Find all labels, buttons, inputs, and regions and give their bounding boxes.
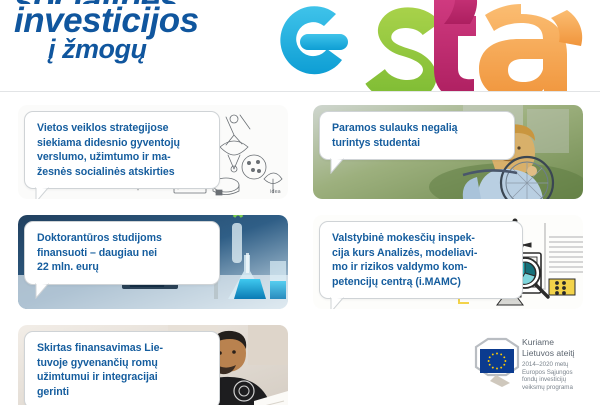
card-tax-inspectorate-center[interactable]: Valstybinė mokesčių inspek- cija kurs An… [313,215,583,309]
svg-text:idea: idea [270,189,281,195]
bubble-tail [330,297,347,309]
esta-logo [274,0,594,92]
card-bubble: Skirtas finansavimas Lie- tuvoje gyvenan… [24,331,220,405]
card-text: Valstybinė mokesčių inspek- cija kurs An… [332,231,511,289]
bubble-tail [330,158,347,173]
card-bubble: Paramos sulauks negalią turintys student… [319,111,515,160]
card-text: Paramos sulauks negalią turintys student… [332,121,503,150]
card-roma-integration[interactable]: Skirtas finansavimas Lie- tuvoje gyvenan… [18,325,288,405]
poster-page: socialinės investicijos į žmogų [0,0,600,405]
card-bubble: Vietos veiklos strategijose siekiama did… [24,111,220,189]
card-local-strategies[interactable]: % team idea happy work [18,105,288,199]
bubble-tail [35,283,52,298]
bubble-tail [35,187,52,199]
card-text: Skirtas finansavimas Lie- tuvoje gyvenan… [37,341,208,399]
card-bubble: Doktorantūros studijoms finansuoti – dau… [24,221,220,285]
european-union-flag [466,335,528,393]
eu-programme: 2014–2020 metų Europos Sąjungos fondų in… [522,361,596,391]
page-title-line-sub: į žmogų [14,36,314,62]
eu-funding-logo: Kuriame Lietuvos ateitį 2014–2020 metų E… [466,335,594,399]
header: socialinės investicijos į žmogų [0,0,600,92]
page-title-line-main: investicijos [14,4,314,38]
card-bubble: Valstybinė mokesčių inspek- cija kurs An… [319,221,523,299]
eu-logo-text: Kuriame Lietuvos ateitį 2014–2020 metų E… [522,337,596,391]
eu-slogan: Kuriame Lietuvos ateitį [522,337,596,358]
page-title: socialinės investicijos į žmogų [14,0,314,63]
card-doctoral-funding[interactable]: Doktorantūros studijoms finansuoti – dau… [18,215,288,309]
card-text: Vietos veiklos strategijose siekiama did… [37,121,208,179]
card-disabled-students[interactable]: Paramos sulauks negalią turintys student… [313,105,583,199]
card-text: Doktorantūros studijoms finansuoti – dau… [37,231,208,275]
